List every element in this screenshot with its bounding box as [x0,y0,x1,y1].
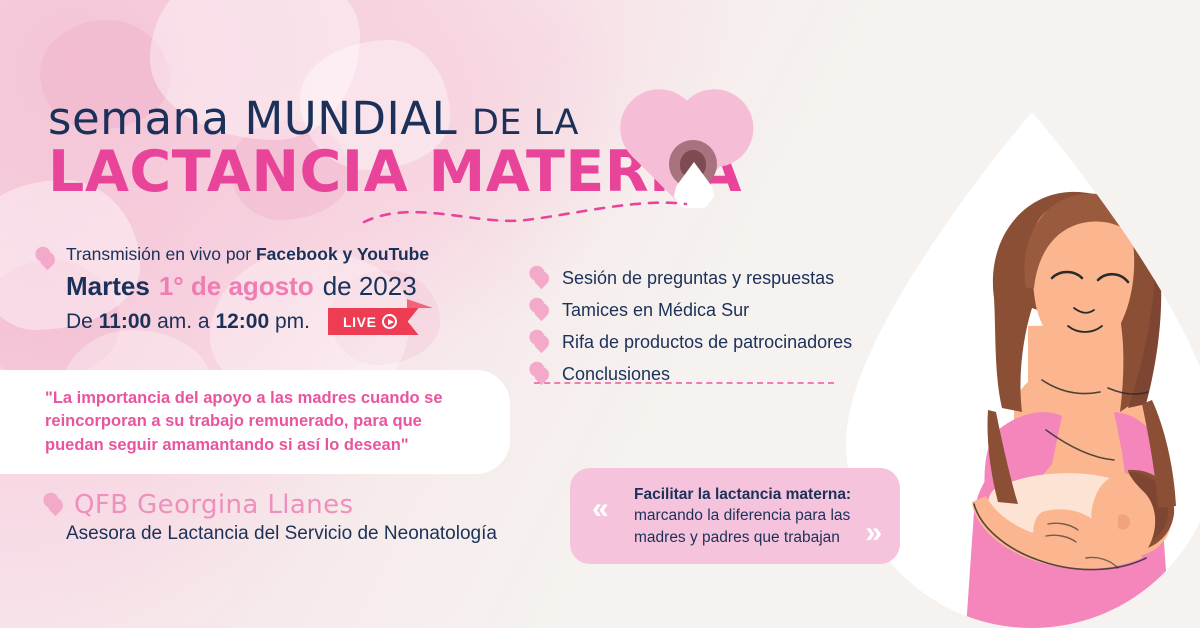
title-line-1-main: semana MUNDIAL [48,92,457,145]
broadcast-time-line: De 11:00 am. a 12:00 pm. LIVE [66,308,429,335]
heart-bullet-icon [531,300,552,321]
mother-breastfeeding-illustration [846,112,1200,628]
time-start: 11:00 [99,310,152,333]
speaker-name: QFB Georgina Llanes [74,490,353,520]
heart-bullet-icon [531,332,552,353]
tagline-rest-line: marcando la diferencia para las madres y… [634,507,850,545]
broadcast-info: Transmisión en vivo por Facebook y YouTu… [66,244,429,335]
speaker-role: Asesora de Lactancia del Servicio de Neo… [66,523,497,545]
event-time: De 11:00 am. a 12:00 pm. [66,310,310,334]
agenda-item-label: Rifa de productos de patrocinadores [562,332,852,353]
agenda-item: Rifa de productos de patrocinadores [534,332,852,353]
agenda-item-label: Sesión de preguntas y respuestas [562,268,834,289]
tagline-text: Facilitar la lactancia materna: marcando… [634,484,884,547]
broadcast-channel-line: Transmisión en vivo por Facebook y YouTu… [66,244,429,265]
live-badge-flag [407,299,433,308]
agenda-item: Tamices en Médica Sur [534,300,852,321]
quote-card: "La importancia del apoyo a las madres c… [0,370,510,474]
mother-baby-figure [846,112,1200,628]
tagline-card: « Facilitar la lactancia materna: marcan… [570,468,900,564]
quote-close-icon: » [865,518,882,548]
live-label: LIVE [343,314,377,330]
speaker-name-row: QFB Georgina Llanes [48,490,497,520]
play-icon [382,314,397,329]
event-date: 1° de agosto [159,271,314,302]
channel-names: Facebook y YouTube [256,244,429,264]
heart-bullet-icon [45,494,66,515]
wavy-dashed-divider [360,196,690,230]
agenda-item-label: Tamices en Médica Sur [562,300,749,321]
dashed-divider [534,382,834,384]
live-badge[interactable]: LIVE [310,308,419,335]
event-day: Martes [66,271,150,302]
poster-canvas: semana MUNDIAL DE LA LACTANCIA MATERNA T… [0,0,1200,628]
speaker-credit: QFB Georgina Llanes Asesora de Lactancia… [48,490,497,545]
heart-bullet-icon [531,268,552,289]
event-year: de 2023 [323,271,417,302]
heart-bullet-icon [40,252,55,267]
broadcast-date-line: Martes 1° de agosto de 2023 [66,271,429,302]
time-end: 12:00 [215,310,269,333]
tagline-strong-line: Facilitar la lactancia materna: [634,484,884,505]
channel-prefix: Transmisión en vivo por [66,244,256,264]
title-line-1-small: DE LA [472,103,579,143]
quote-text: "La importancia del apoyo a las madres c… [45,387,465,457]
quote-open-icon: « [592,494,609,524]
agenda-item: Sesión de preguntas y respuestas [534,268,852,289]
agenda-list: Sesión de preguntas y respuestas Tamices… [534,268,852,396]
